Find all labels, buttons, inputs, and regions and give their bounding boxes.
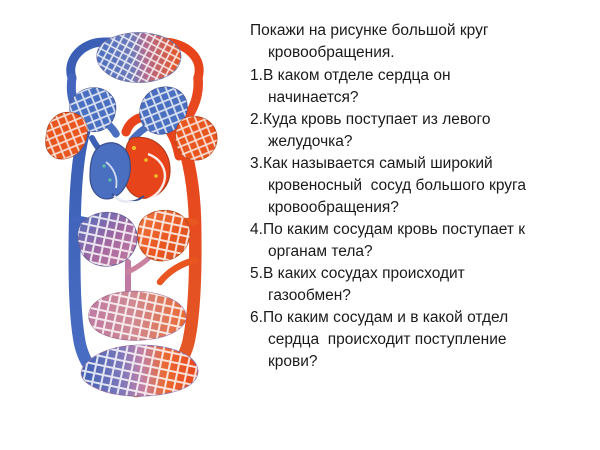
question-item-2: Куда кровь поступает из левого желудочка… — [250, 109, 542, 153]
worksheet-slide: Покажи на рисунке большой круг кровообра… — [0, 0, 600, 450]
lower-body-capillary-bed — [81, 345, 198, 396]
head-capillary-bed — [97, 33, 181, 83]
question-item-4: По каким сосудам кровь поступает к орган… — [250, 219, 542, 263]
heart — [90, 137, 170, 202]
circulatory-system-diagram — [28, 14, 240, 406]
liver-capillary-bed — [78, 212, 137, 266]
stomach-capillary-bed — [138, 210, 190, 260]
questions-block: Покажи на рисунке большой круг кровообра… — [250, 20, 542, 373]
question-item-6: По каким сосудам и в какой отдел сердца … — [250, 307, 542, 373]
question-item-3: Как называется самый широкий кровеносный… — [250, 153, 542, 219]
questions-list: В каком отделе сердца он начинается? Куд… — [250, 65, 542, 373]
right-lung-artery-capillary-bed — [176, 116, 217, 160]
question-item-5: В каких сосудах происходит газообмен? — [250, 263, 542, 307]
question-item-1: В каком отделе сердца он начинается? — [250, 65, 542, 109]
questions-intro: Покажи на рисунке большой круг кровообра… — [250, 20, 542, 64]
intestine-capillary-bed — [89, 291, 186, 340]
